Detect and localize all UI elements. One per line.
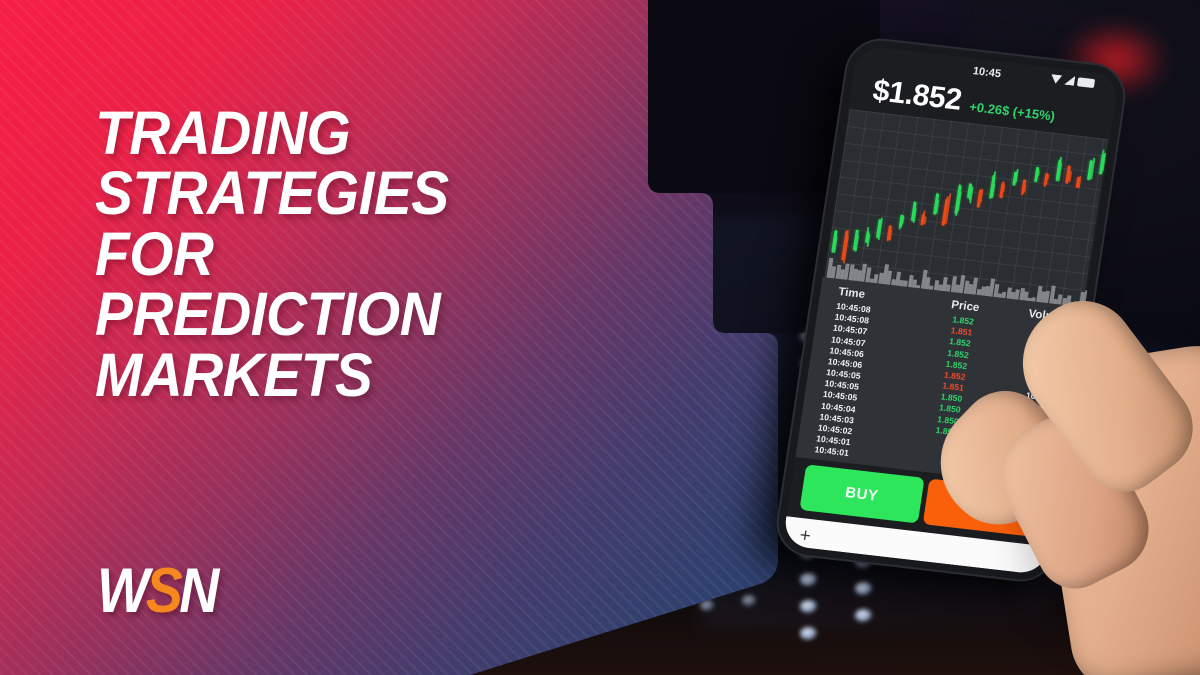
status-bar-time: 10:45: [972, 65, 1002, 80]
headline-line-2: Strategies: [95, 163, 579, 223]
status-bar-icons: [1050, 73, 1095, 88]
sell-button[interactable]: SELL: [922, 479, 1047, 538]
table-body: 10:45:081.852219.910:45:081.851499.210:4…: [814, 301, 1068, 482]
signal-icon: [1064, 75, 1075, 86]
logo-letter-s: S: [146, 556, 179, 626]
logo-letter-n: N: [179, 556, 216, 626]
buy-button[interactable]: BUY: [799, 465, 924, 524]
headline-line-4: Prediction: [95, 284, 579, 344]
plus-icon[interactable]: +: [798, 526, 812, 546]
page-title: Trading Strategies For Prediction Market…: [95, 103, 579, 405]
battery-icon: [1077, 77, 1095, 88]
promo-banner: Trading Strategies For Prediction Market…: [0, 0, 1200, 675]
headline-line-5: Markets: [95, 345, 579, 405]
price-change: +0.26$ (+15%): [968, 99, 1056, 124]
wifi-icon: [1050, 74, 1062, 84]
logo-letter-w: W: [97, 556, 146, 626]
price-chart[interactable]: [824, 109, 1108, 307]
trades-table[interactable]: Time Price Volume 10:45:081.852219.910:4…: [795, 277, 1085, 488]
headline-line-1: Trading: [95, 103, 579, 163]
headline-line-3: For: [95, 224, 579, 284]
wsn-logo[interactable]: WSN: [97, 560, 216, 623]
